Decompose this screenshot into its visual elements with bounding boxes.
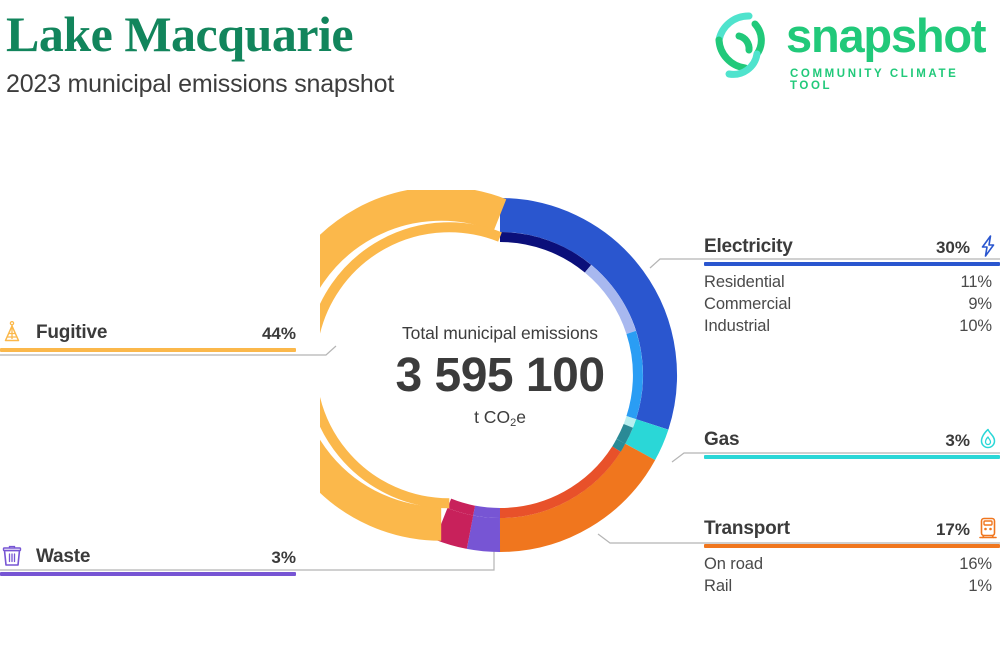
- callout-fugitive-header: Fugitive 44%: [0, 318, 296, 344]
- callout-fugitive-percent: 44%: [262, 324, 296, 344]
- donut-slice-fugitive: [320, 204, 500, 524]
- sub-percent-rail: 1%: [968, 575, 1000, 597]
- callout-transport-header: Transport 17%: [704, 514, 1000, 540]
- callout-fugitive-label: Fugitive: [36, 322, 107, 344]
- donut-slice-waste: [470, 532, 500, 535]
- sub-percent-industrial: 10%: [959, 315, 1000, 337]
- donut-sub-gas-a: [628, 418, 631, 426]
- callout-electricity-subitems: Residential 11% Commercial 9% Industrial…: [704, 271, 1000, 337]
- callout-electricity-rule: [704, 262, 1000, 266]
- callout-electricity-header: Electricity 30%: [704, 232, 1000, 258]
- sub-row-onroad: On road 16%: [704, 553, 1000, 575]
- snapshot-logo: snapshot COMMUNITY CLIMATE TOOL: [700, 6, 1000, 92]
- sub-percent-onroad: 16%: [959, 553, 1000, 575]
- callout-waste-rule: [0, 572, 296, 576]
- callout-transport-rule: [704, 544, 1000, 548]
- sub-label-rail: Rail: [704, 575, 732, 597]
- trash-bin-icon: [0, 544, 24, 568]
- sub-label-industrial: Industrial: [704, 315, 770, 337]
- flame-icon: [976, 427, 1000, 451]
- page-title: Lake Macquarie: [6, 6, 353, 63]
- callout-gas-percent: 3%: [945, 431, 976, 451]
- donut-inner-ring: [320, 227, 638, 513]
- sub-label-onroad: On road: [704, 553, 763, 575]
- sub-percent-commercial: 9%: [968, 293, 1000, 315]
- logo-wordmark: snapshot: [786, 12, 985, 59]
- donut-sub-other: [449, 503, 474, 510]
- callout-transport[interactable]: Transport 17% On road 16% Rail 1%: [704, 514, 1000, 597]
- callout-gas-label: Gas: [704, 429, 739, 451]
- callout-fugitive-rule: [0, 348, 296, 352]
- sub-percent-residential: 11%: [961, 271, 1000, 293]
- donut-sub-rail: [617, 441, 621, 449]
- callout-transport-label: Transport: [704, 518, 790, 540]
- page-subtitle: 2023 municipal emissions snapshot: [6, 70, 394, 99]
- callout-gas-header: Gas 3%: [704, 425, 1000, 451]
- lightning-bolt-icon: [976, 234, 1000, 258]
- donut-sub-waste: [474, 511, 500, 513]
- callout-waste-label: Waste: [36, 546, 90, 568]
- callout-gas-rule: [704, 455, 1000, 459]
- emissions-donut-chart: Total municipal emissions 3 595 100 t CO…: [320, 190, 680, 560]
- sub-label-residential: Residential: [704, 271, 785, 293]
- sub-row-rail: Rail 1%: [704, 575, 1000, 597]
- donut-slice-other: [441, 524, 470, 532]
- callout-gas[interactable]: Gas 3%: [704, 425, 1000, 459]
- tram-icon: [976, 516, 1000, 540]
- callout-electricity[interactable]: Electricity 30% Residential 11% Commerci…: [704, 232, 1000, 337]
- callout-fugitive[interactable]: Fugitive 44%: [0, 318, 296, 352]
- logo-tagline: COMMUNITY CLIMATE TOOL: [790, 68, 1000, 92]
- sub-label-commercial: Commercial: [704, 293, 791, 315]
- callout-transport-percent: 17%: [936, 520, 976, 540]
- donut-sub-gas-b: [621, 426, 628, 441]
- callout-waste-header: Waste 3%: [0, 542, 296, 568]
- donut-slice-gas: [640, 424, 652, 452]
- donut-sub-fugitive: [320, 227, 500, 503]
- callout-waste-percent: 3%: [271, 548, 296, 568]
- callout-electricity-percent: 30%: [936, 238, 976, 258]
- oil-derrick-icon: [0, 320, 24, 344]
- donut-svg: [320, 190, 680, 560]
- callout-transport-subitems: On road 16% Rail 1%: [704, 553, 1000, 597]
- donut-sub-industrial: [631, 332, 638, 417]
- snapshot-swirl-icon: [705, 8, 777, 84]
- sub-row-commercial: Commercial 9%: [704, 293, 1000, 315]
- callout-electricity-label: Electricity: [704, 236, 793, 258]
- callout-waste[interactable]: Waste 3%: [0, 542, 296, 576]
- sub-row-industrial: Industrial 10%: [704, 315, 1000, 337]
- sub-row-residential: Residential 11%: [704, 271, 1000, 293]
